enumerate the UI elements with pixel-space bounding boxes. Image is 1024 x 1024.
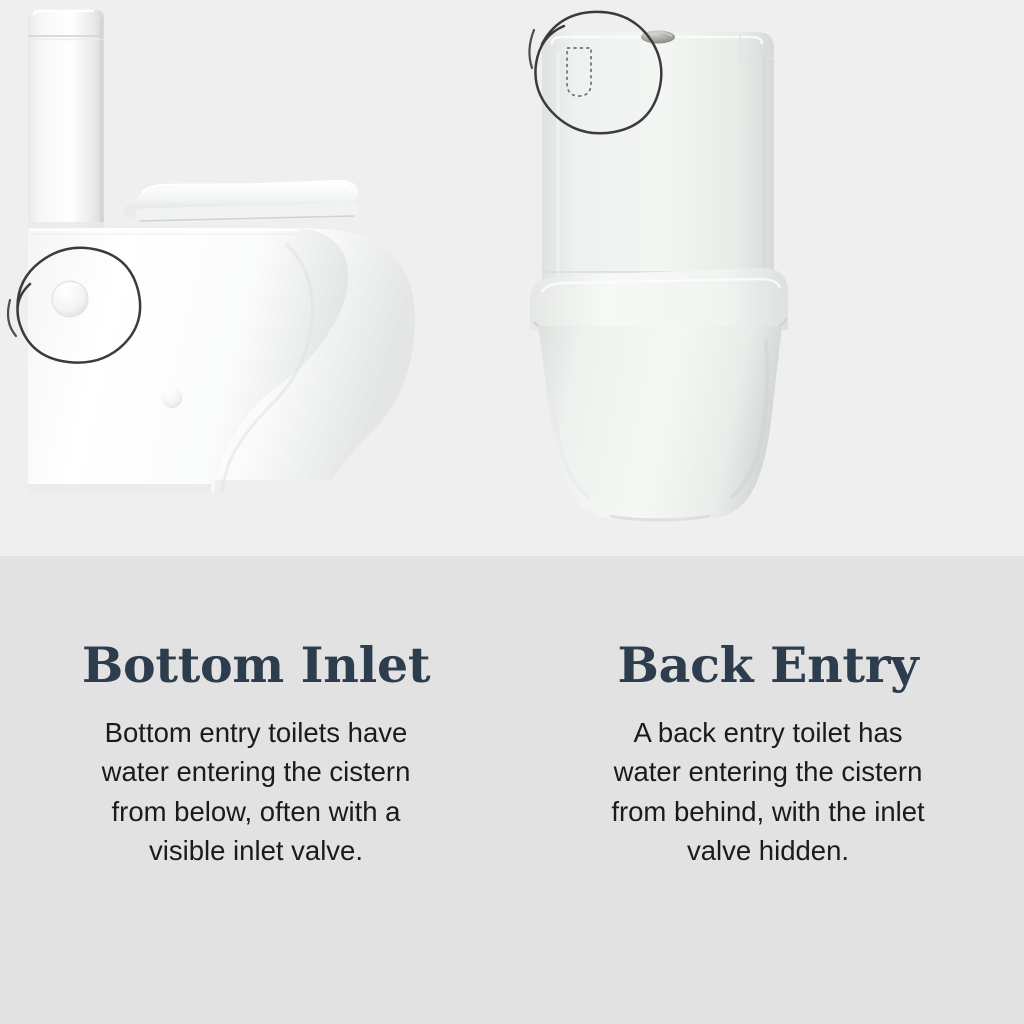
cistern-part — [542, 32, 774, 282]
panel-title: Bottom Inlet — [0, 640, 512, 691]
caption-back-entry: Back Entry A back entry toilet has water… — [512, 640, 1024, 870]
panel-description: A back entry toilet has water entering t… — [512, 691, 1024, 869]
bowl-part — [28, 228, 415, 492]
seat-band-part — [530, 268, 788, 332]
illustration-back-entry-toilet — [512, 0, 1024, 640]
inlet-valve-knob — [52, 281, 88, 317]
panel-back-entry: Back Entry A back entry toilet has water… — [512, 0, 1024, 1024]
panel-description: Bottom entry toilets have water entering… — [0, 691, 512, 869]
seat-lid-part — [124, 180, 359, 223]
bowl-part — [538, 326, 782, 520]
infographic-root: Bottom Inlet Bottom entry toilets have w… — [0, 0, 1024, 1024]
caption-bottom-inlet: Bottom Inlet Bottom entry toilets have w… — [0, 640, 512, 870]
cistern-part — [28, 10, 104, 228]
panel-title: Back Entry — [512, 640, 1024, 691]
floor-bolt-cap — [162, 388, 182, 408]
illustration-bottom-inlet-toilet — [0, 0, 512, 640]
panel-bottom-inlet: Bottom Inlet Bottom entry toilets have w… — [0, 0, 512, 1024]
